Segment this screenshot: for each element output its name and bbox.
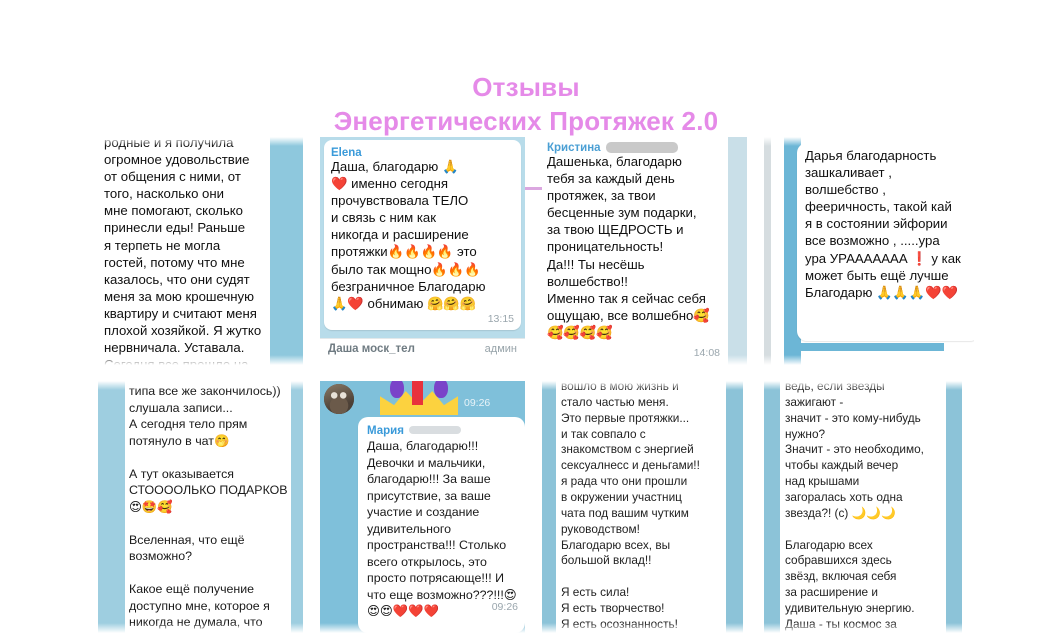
page-title-line2: Энергетических Протяжек 2.0 bbox=[0, 105, 1052, 138]
chat-footer-name: Даша моск_тел bbox=[328, 343, 415, 355]
review-screenshot-8[interactable]: ведь, если звезды зажигают - значит - эт… bbox=[764, 381, 974, 633]
reviews-grid: родные и я получила огромное удовольстви… bbox=[0, 137, 1052, 633]
review-screenshot-6[interactable]: 09:26 Мария Даша, благодарю!!! Девочки и… bbox=[320, 381, 525, 633]
review-text: Даша, благодарю!!! Девочки и мальчики, б… bbox=[367, 438, 521, 620]
chat-right-edge bbox=[726, 381, 743, 633]
crown-sticker bbox=[380, 381, 472, 415]
chat-right-edge bbox=[728, 137, 747, 365]
chat-left-edge bbox=[98, 381, 125, 633]
message-panel: Кристина Дашенька, благодарю тебя за каж… bbox=[542, 137, 728, 365]
review-text: Дашенька, благодарю тебя за каждый день … bbox=[547, 153, 724, 341]
redaction-blob bbox=[606, 142, 678, 153]
chat-left-edge bbox=[764, 137, 771, 365]
message-panel: вошло в мою жизнь и стало частью меня. Э… bbox=[556, 381, 722, 633]
chat-right-edge bbox=[291, 381, 303, 633]
sticker-time: 09:26 bbox=[464, 397, 490, 409]
page-title-line1: Отзывы bbox=[472, 72, 579, 102]
chat-right-edge bbox=[946, 381, 962, 633]
crown-gem-right-icon bbox=[434, 381, 448, 398]
review-text: ведь, если звезды зажигают - значит - эт… bbox=[785, 381, 943, 633]
message-panel: типа все же закончилось)) слушала записи… bbox=[125, 381, 291, 633]
chat-footer[interactable]: Даша моск_тел админ bbox=[320, 338, 525, 365]
redaction-blob bbox=[409, 426, 461, 434]
crown-gem-left-icon bbox=[390, 381, 404, 398]
sender-name: Мария bbox=[367, 425, 404, 437]
review-text: вошло в мою жизнь и стало частью меня. Э… bbox=[561, 381, 719, 633]
chat-footer-role: админ bbox=[485, 343, 517, 355]
review-text: типа все же закончилось)) слушала записи… bbox=[129, 383, 288, 631]
chat-left-edge bbox=[764, 381, 780, 633]
message-bubble[interactable]: Elena Даша, благодарю 🙏 ❤️ именно сегодн… bbox=[324, 140, 521, 330]
review-screenshot-5[interactable]: типа все же закончилось)) слушала записи… bbox=[98, 381, 303, 633]
review-text: Дарья благодарность зашкаливает , волшеб… bbox=[805, 147, 974, 301]
review-text: родные и я получила огромное удовольстви… bbox=[104, 137, 266, 365]
chat-bottom-bar bbox=[784, 343, 944, 351]
message-panel: ведь, если звезды зажигают - значит - эт… bbox=[780, 381, 946, 633]
review-screenshot-2[interactable]: Elena Даша, благодарю 🙏 ❤️ именно сегодн… bbox=[320, 137, 525, 365]
chat-left-edge bbox=[542, 381, 556, 633]
crown-ribbon-icon bbox=[412, 381, 423, 405]
message-bubble[interactable]: Дарья благодарность зашкаливает , волшеб… bbox=[797, 143, 974, 341]
message-time: 13:15 bbox=[488, 313, 514, 325]
message-time: 09:26 bbox=[492, 601, 518, 613]
avatar[interactable] bbox=[324, 384, 354, 414]
message-time: 14:08 bbox=[694, 347, 720, 359]
avatar-image bbox=[324, 384, 354, 414]
review-screenshot-1[interactable]: родные и я получила огромное удовольстви… bbox=[98, 137, 303, 365]
sender-name: Elena bbox=[331, 147, 362, 159]
review-screenshot-4[interactable]: Дарья благодарность зашкаливает , волшеб… bbox=[764, 137, 974, 365]
message-panel: родные и я получила огромное удовольстви… bbox=[98, 137, 270, 365]
message-bubble[interactable]: Мария Даша, благодарю!!! Девочки и мальч… bbox=[358, 417, 525, 633]
review-text: Даша, благодарю 🙏 ❤️ именно сегодня проч… bbox=[331, 158, 516, 312]
review-screenshot-3[interactable]: Кристина Дашенька, благодарю тебя за каж… bbox=[542, 137, 747, 365]
sender-name: Кристина bbox=[547, 142, 601, 154]
chat-right-edge bbox=[270, 137, 303, 365]
review-screenshot-7[interactable]: вошло в мою жизнь и стало частью меня. Э… bbox=[542, 381, 747, 633]
